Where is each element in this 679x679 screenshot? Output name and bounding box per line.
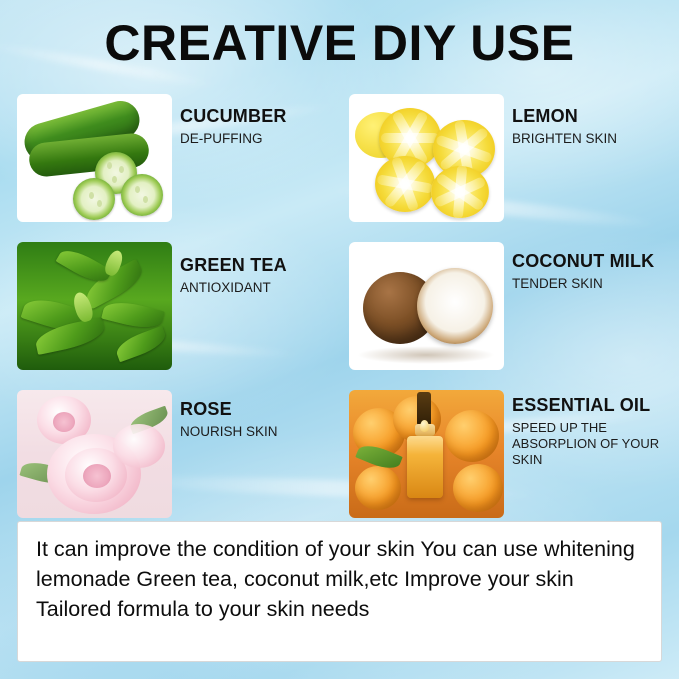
rose-photo: [17, 390, 172, 518]
green-tea-title: GREEN TEA: [180, 256, 340, 275]
poster-root: CREATIVE DIY USE: [0, 0, 679, 679]
essential-oil-title: ESSENTIAL OIL: [512, 396, 668, 415]
cucumber-benefit: DE-PUFFING: [180, 131, 340, 147]
rose-title: ROSE: [180, 400, 340, 419]
caption-panel: It can improve the condition of your ski…: [17, 521, 662, 662]
green-tea-photo: [17, 242, 172, 370]
caption-text: It can improve the condition of your ski…: [36, 534, 646, 624]
cucumber-title: CUCUMBER: [180, 107, 340, 126]
cucumber-photo: [17, 94, 172, 222]
lemon-title: LEMON: [512, 107, 672, 126]
lemon-benefit: BRIGHTEN SKIN: [512, 131, 672, 147]
coconut-photo: [349, 242, 504, 370]
lemon-photo: [349, 94, 504, 222]
rose-benefit: NOURISH SKIN: [180, 424, 340, 440]
essential-oil-benefit: SPEED UP THE ABSORPLION OF YOUR SKIN: [512, 420, 668, 468]
green-tea-benefit: ANTIOXIDANT: [180, 280, 340, 296]
coconut-benefit: TENDER SKIN: [512, 276, 670, 292]
essential-oil-photo: [349, 390, 504, 518]
coconut-title: COCONUT MILK: [512, 252, 670, 271]
page-title: CREATIVE DIY USE: [0, 18, 679, 68]
